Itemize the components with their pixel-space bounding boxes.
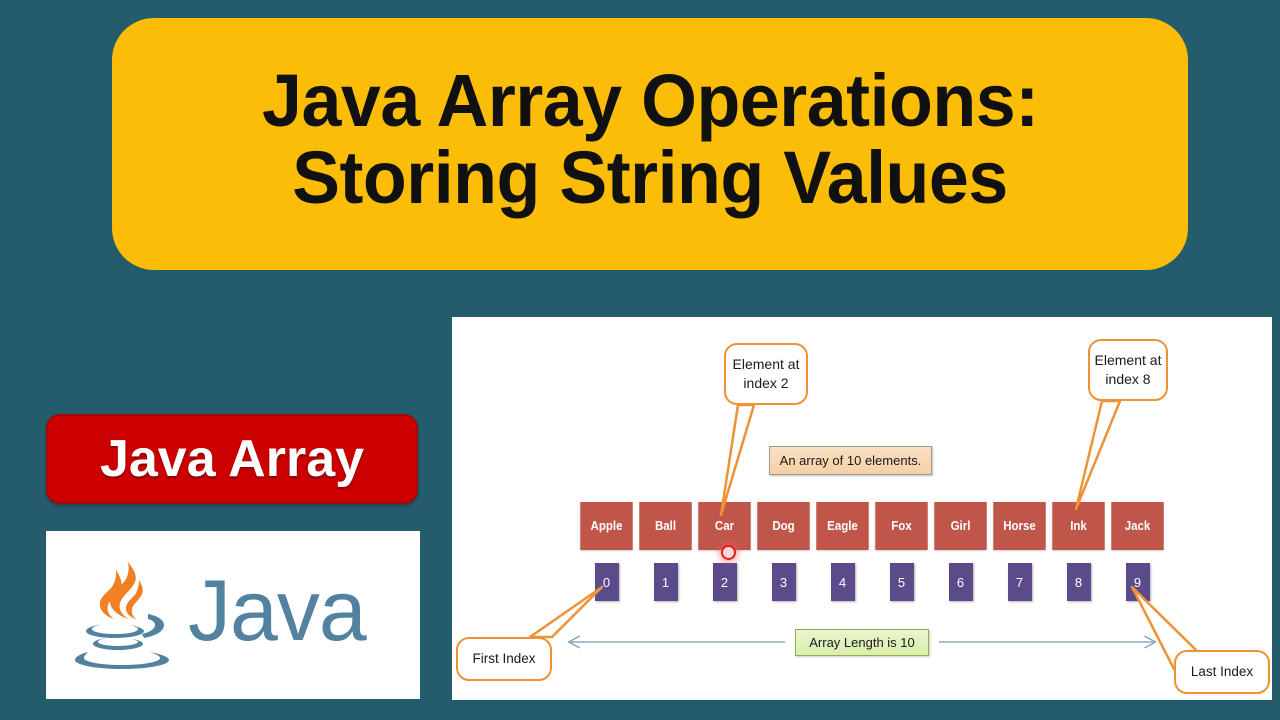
callout-index2-line1: Element at [733,356,800,372]
title-banner: Java Array Operations: Storing String Va… [112,18,1188,270]
java-array-badge-label: Java Array [100,429,364,489]
callout-element-at-index-8: Element at index 8 [1088,339,1168,401]
callout-index2-line2: index 2 [743,375,788,391]
array-diagram-panel: Element at index 2 Element at index 8 Fi… [452,317,1272,700]
array-size-note: An array of 10 elements. [769,446,932,475]
page-title-line-2: Storing String Values [292,140,1008,217]
page-title-line-1: Java Array Operations: [262,63,1039,140]
java-array-badge: Java Array [46,414,418,504]
callout-last-index: Last Index [1174,650,1270,694]
java-logo-card: Java [46,531,420,699]
java-coffee-cup-icon [74,556,182,674]
callout-index8-line1: Element at [1095,352,1162,368]
red-dot-cursor-icon [721,545,736,560]
callout-element-at-index-2: Element at index 2 [724,343,808,405]
java-wordmark: Java [188,568,366,662]
callout-index8-line2: index 8 [1105,371,1150,387]
slide-canvas: Java Array Operations: Storing String Va… [0,0,1280,720]
callout-first-index: First Index [456,637,552,681]
